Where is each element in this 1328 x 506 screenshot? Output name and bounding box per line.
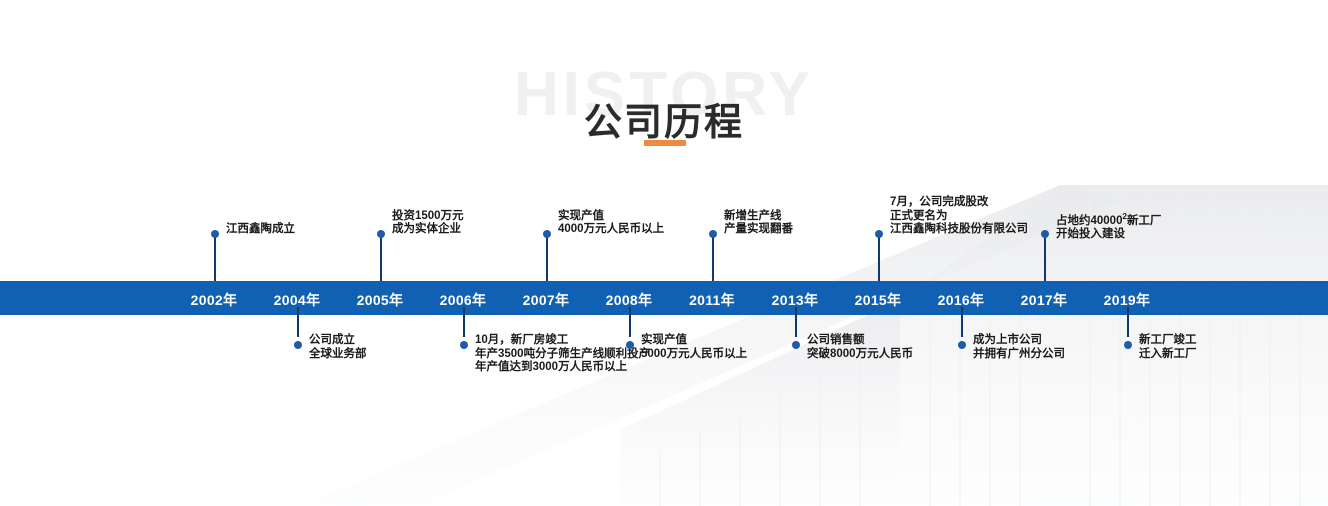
timeline-event-line: 成为实体企业 bbox=[392, 223, 464, 237]
connector-line bbox=[961, 307, 963, 337]
timeline-year-2011[interactable]: 2011年 bbox=[689, 290, 735, 310]
timeline-event-text: 实现产值4000万元人民币以上 bbox=[558, 210, 664, 237]
timeline-event-text: 投资1500万元成为实体企业 bbox=[392, 210, 464, 237]
timeline-marker-dot bbox=[294, 341, 302, 349]
connector-line bbox=[712, 234, 714, 281]
connector-line bbox=[1044, 234, 1046, 281]
timeline-event-text: 占地约400002新工厂开始投入建设 bbox=[1056, 210, 1161, 242]
timeline-event-line: 江西鑫陶成立 bbox=[226, 223, 295, 237]
timeline-event-line: 新工厂竣工 bbox=[1139, 334, 1197, 348]
connector-line bbox=[297, 307, 299, 337]
connector-line bbox=[380, 234, 382, 281]
timeline-event-line: 7月，公司完成股改 bbox=[890, 196, 1028, 210]
timeline-event-line: 迁入新工厂 bbox=[1139, 348, 1197, 362]
timeline-marker-dot bbox=[875, 230, 883, 238]
connector-line bbox=[463, 307, 465, 337]
timeline-event-line: 实现产值 bbox=[558, 210, 664, 224]
timeline-event-text: 7月，公司完成股改正式更名为江西鑫陶科技股份有限公司 bbox=[890, 196, 1028, 237]
timeline-marker-dot bbox=[626, 341, 634, 349]
timeline-event-line: 并拥有广州分公司 bbox=[973, 348, 1065, 362]
connector-line bbox=[878, 234, 880, 281]
timeline-marker-dot bbox=[792, 341, 800, 349]
timeline-marker-dot bbox=[958, 341, 966, 349]
timeline-year-2015[interactable]: 2015年 bbox=[855, 290, 902, 310]
timeline-event-line: 新增生产线 bbox=[724, 210, 793, 224]
timeline-event-line: 年产值达到3000万人民币以上 bbox=[475, 361, 650, 375]
timeline-marker-dot bbox=[460, 341, 468, 349]
timeline-event-text: 新工厂竣工迁入新工厂 bbox=[1139, 334, 1197, 361]
timeline-event-line: 开始投入建设 bbox=[1056, 228, 1161, 242]
timeline-event-text: 公司销售额突破8000万元人民币 bbox=[807, 334, 913, 361]
connector-line bbox=[629, 307, 631, 337]
timeline-event-line: 产量实现翻番 bbox=[724, 223, 793, 237]
timeline-event-line: 全球业务部 bbox=[309, 348, 367, 362]
timeline-event-text: 实现产值5000万元人民币以上 bbox=[641, 334, 747, 361]
timeline-event-line: 江西鑫陶科技股份有限公司 bbox=[890, 223, 1028, 237]
timeline-event-line: 正式更名为 bbox=[890, 210, 1028, 224]
connector-line bbox=[214, 234, 216, 281]
timeline-marker-dot bbox=[543, 230, 551, 238]
timeline-year-2007[interactable]: 2007年 bbox=[523, 290, 570, 310]
connector-line bbox=[795, 307, 797, 337]
timeline-marker-dot bbox=[377, 230, 385, 238]
timeline-event-line: 公司成立 bbox=[309, 334, 367, 348]
timeline-year-2017[interactable]: 2017年 bbox=[1021, 290, 1068, 310]
timeline-marker-dot bbox=[1124, 341, 1132, 349]
timeline-event-text: 公司成立全球业务部 bbox=[309, 334, 367, 361]
connector-line bbox=[1127, 307, 1129, 337]
timeline-event-line: 实现产值 bbox=[641, 334, 747, 348]
timeline-event-line: 突破8000万元人民币 bbox=[807, 348, 913, 362]
timeline-event-line: 成为上市公司 bbox=[973, 334, 1065, 348]
connector-line bbox=[546, 234, 548, 281]
timeline-event-line: 5000万元人民币以上 bbox=[641, 348, 747, 362]
timeline-event-text: 新增生产线产量实现翻番 bbox=[724, 210, 793, 237]
timeline-marker-dot bbox=[1041, 230, 1049, 238]
timeline-event-line: 投资1500万元 bbox=[392, 210, 464, 224]
timeline-event-line: 4000万元人民币以上 bbox=[558, 223, 664, 237]
timeline-event-text: 江西鑫陶成立 bbox=[226, 223, 295, 237]
timeline-event-line: 年产3500吨分子筛生产线顺利投产 bbox=[475, 348, 650, 362]
timeline-event-line: 10月，新厂房竣工 bbox=[475, 334, 650, 348]
timeline-event-line: 公司销售额 bbox=[807, 334, 913, 348]
timeline-year-2002[interactable]: 2002年 bbox=[191, 290, 238, 310]
timeline-event-text: 成为上市公司并拥有广州分公司 bbox=[973, 334, 1065, 361]
timeline-event-text: 10月，新厂房竣工年产3500吨分子筛生产线顺利投产年产值达到3000万人民币以… bbox=[475, 334, 650, 375]
timeline-event-line: 占地约400002新工厂 bbox=[1056, 210, 1161, 228]
timeline-marker-dot bbox=[211, 230, 219, 238]
timeline-year-2005[interactable]: 2005年 bbox=[357, 290, 404, 310]
company-history-timeline: 2002年2004年2005年2006年2007年2008年2011年2013年… bbox=[0, 0, 1328, 506]
timeline-marker-dot bbox=[709, 230, 717, 238]
